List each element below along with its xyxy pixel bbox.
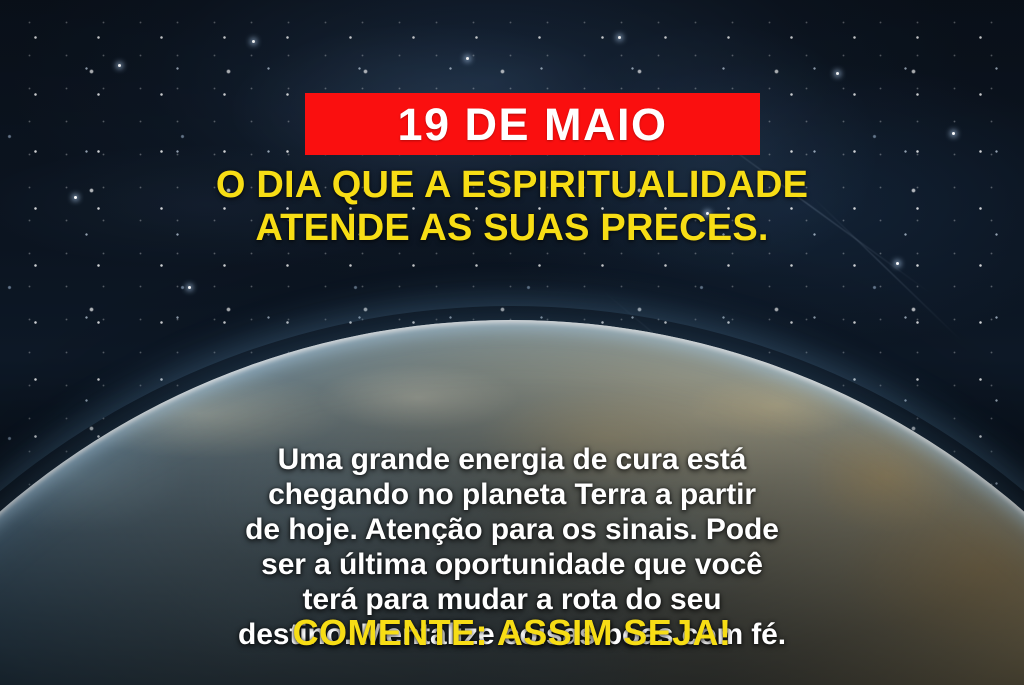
- call-to-action-label: COMENTE: ASSIM SEJA!: [0, 615, 1024, 651]
- body-line-4: ser a última oportunidade que você: [58, 547, 966, 582]
- date-banner-label: 19 DE MAIO: [397, 102, 667, 147]
- headline-line-1: O DIA QUE A ESPIRITUALIDADE: [0, 164, 1024, 207]
- poster-canvas: 19 DE MAIO O DIA QUE A ESPIRITUALIDADE A…: [0, 0, 1024, 685]
- poster-content: 19 DE MAIO O DIA QUE A ESPIRITUALIDADE A…: [0, 0, 1024, 685]
- body-line-2: chegando no planeta Terra a partir: [58, 477, 966, 512]
- headline: O DIA QUE A ESPIRITUALIDADE ATENDE AS SU…: [0, 164, 1024, 249]
- headline-line-2: ATENDE AS SUAS PRECES.: [0, 207, 1024, 250]
- date-banner: 19 DE MAIO: [305, 93, 760, 155]
- body-line-1: Uma grande energia de cura está: [58, 442, 966, 477]
- body-line-3: de hoje. Atenção para os sinais. Pode: [58, 512, 966, 547]
